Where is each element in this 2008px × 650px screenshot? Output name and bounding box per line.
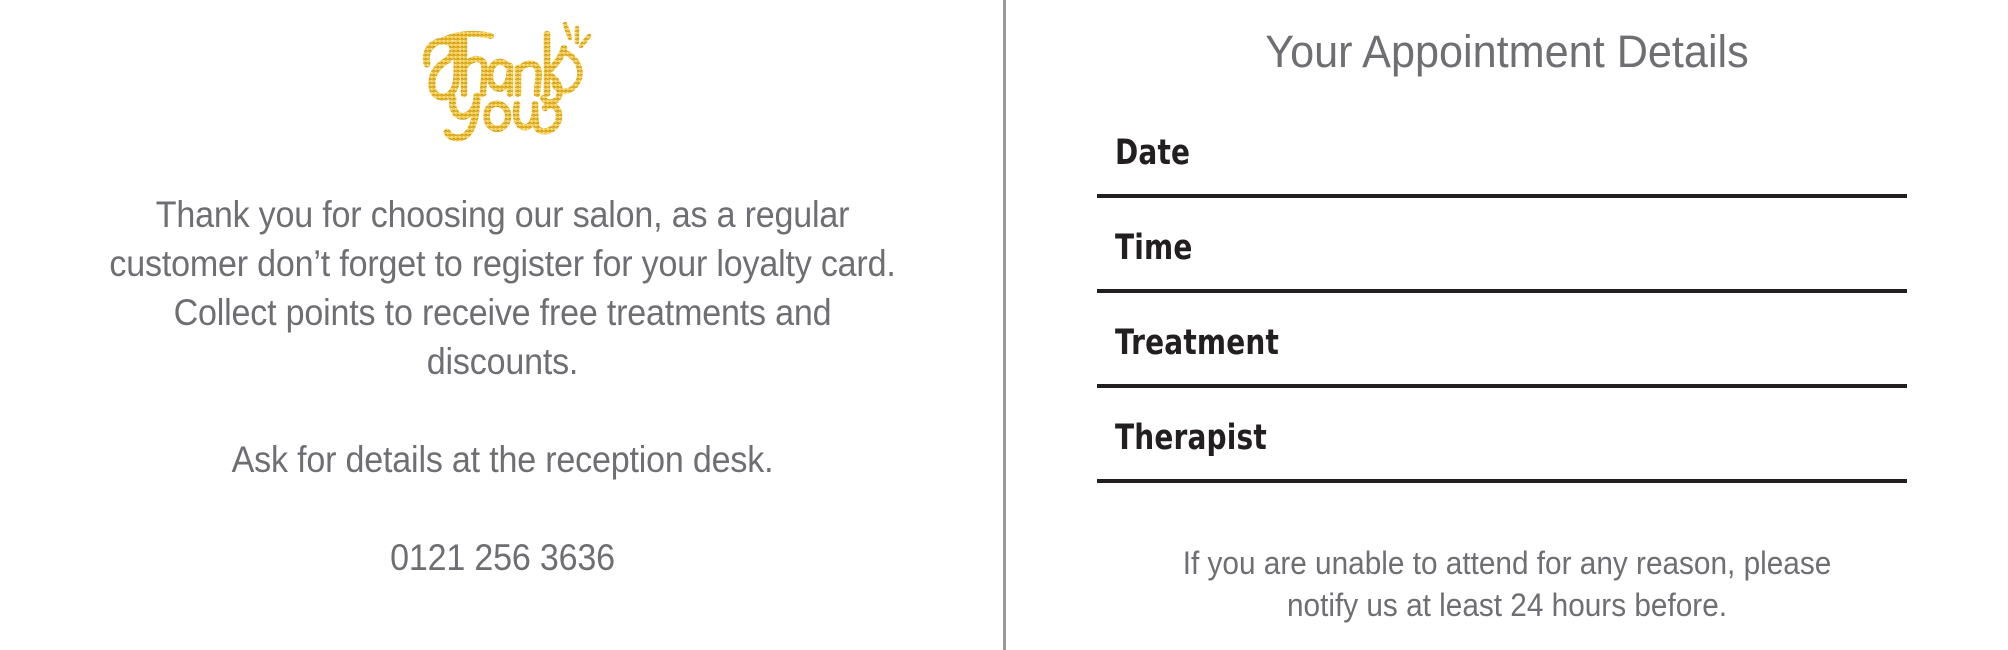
reception-note: Ask for details at the reception desk. [95, 435, 909, 484]
cancellation-note: If you are unable to attend for any reas… [1084, 542, 1930, 626]
cancellation-note-line-2: notify us at least 24 hours before. [1084, 584, 1930, 626]
thank-you-script-icon [407, 12, 597, 144]
field-row-therapist[interactable]: Therapist [1097, 388, 1907, 483]
appointment-fields: Date Time Treatment Therapist [1097, 103, 1907, 483]
field-label-time: Time [1115, 229, 1193, 267]
right-panel: Your Appointment Details Date Time Treat… [1006, 0, 2008, 650]
field-label-date: Date [1115, 134, 1190, 172]
appointment-details-heading: Your Appointment Details [1026, 26, 1988, 78]
field-label-treatment: Treatment [1115, 324, 1279, 362]
phone-spacer [60, 484, 945, 533]
paragraph-spacer [60, 386, 945, 435]
field-row-time[interactable]: Time [1097, 198, 1907, 293]
salon-phone-number[interactable]: 0121 256 3636 [95, 533, 909, 582]
field-label-therapist: Therapist [1115, 419, 1267, 457]
cancellation-note-line-1: If you are unable to attend for any reas… [1084, 542, 1930, 584]
thank-you-logo [0, 8, 1003, 148]
appointment-card: Thank you for choosing our salon, as a r… [0, 0, 2008, 650]
field-row-date[interactable]: Date [1097, 103, 1907, 198]
field-row-treatment[interactable]: Treatment [1097, 293, 1907, 388]
salon-message: Thank you for choosing our salon, as a r… [60, 190, 945, 582]
loyalty-paragraph: Thank you for choosing our salon, as a r… [95, 190, 909, 386]
left-panel: Thank you for choosing our salon, as a r… [0, 0, 1003, 650]
field-rule-therapist [1097, 479, 1907, 483]
